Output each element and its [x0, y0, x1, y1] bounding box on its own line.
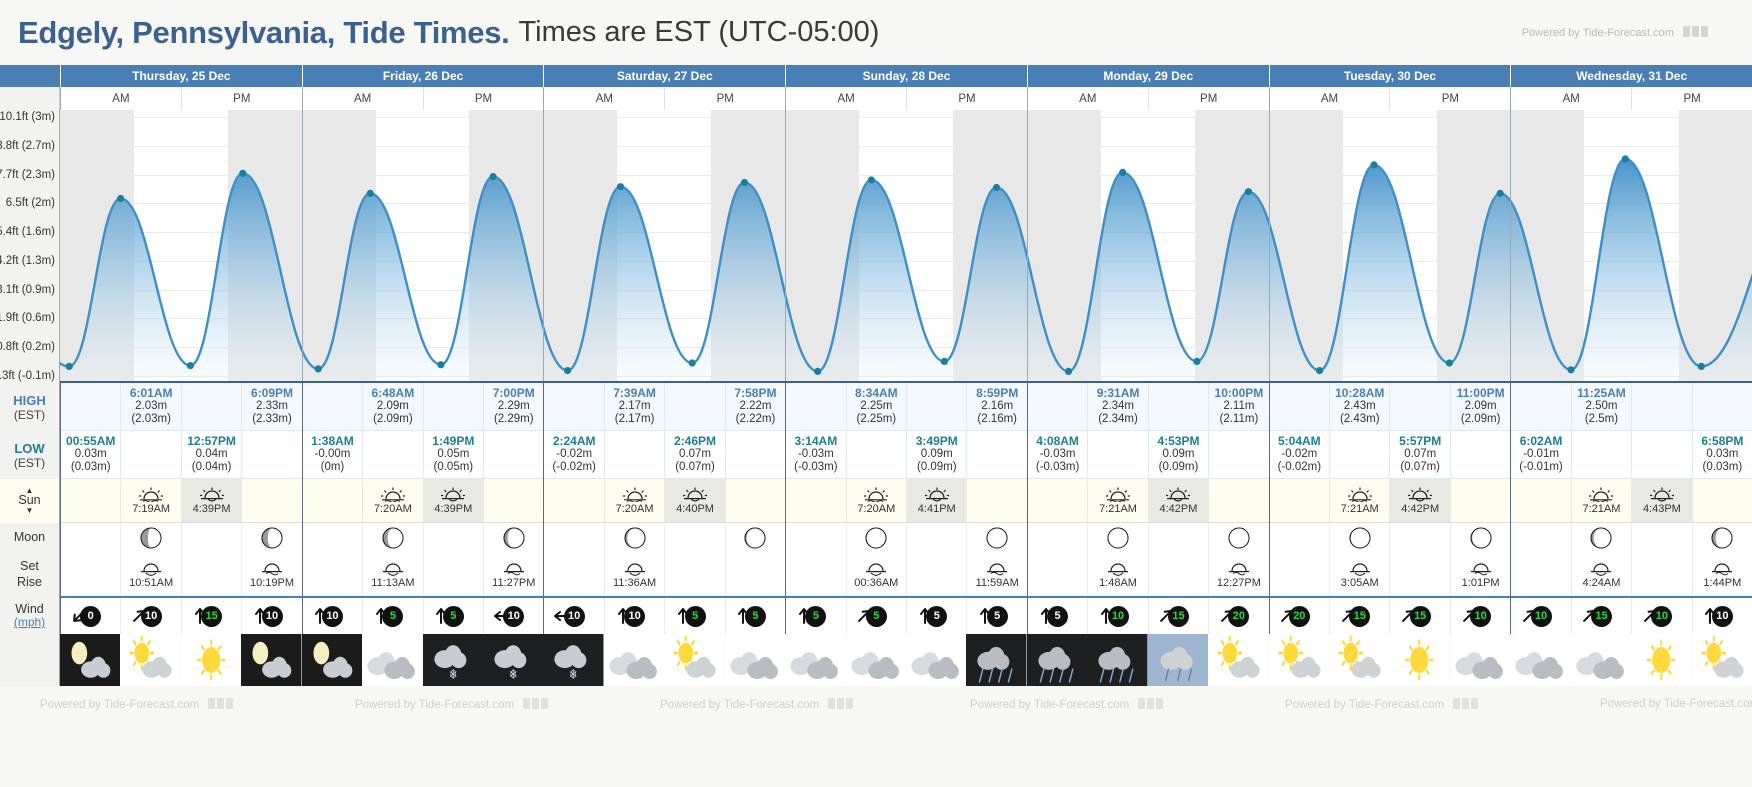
wind-cell[interactable]: 10: [1087, 598, 1147, 634]
sunrise-cell[interactable]: 7:20AM: [604, 479, 664, 523]
wind-cell[interactable]: 20: [1270, 598, 1329, 634]
low-tide-cell-empty: [241, 431, 301, 479]
ampm-pm-5: PM: [1389, 87, 1510, 110]
y-axis-label-4: 5.4ft (1.6m): [0, 226, 55, 238]
wind-cell[interactable]: 20: [1208, 598, 1268, 634]
moonrise-cell[interactable]: 10:19PM: [241, 552, 301, 596]
high-tide-day-6: 11:25AM 2.50m (2.5m): [1510, 383, 1752, 431]
high-tide-cell[interactable]: 6:01AM 2.03m (2.03m): [120, 383, 180, 431]
weather-cell[interactable]: [120, 634, 180, 686]
moon-phase-cell[interactable]: [483, 523, 543, 552]
weather-cell[interactable]: [302, 634, 362, 686]
high-tide-time: 6:09PM: [251, 387, 293, 400]
high-tide-height-alt: (2.03m): [131, 413, 171, 426]
page-title: Edgely, Pennsylvania, Tide Times.: [18, 15, 509, 51]
high-tide-height-alt: (2.33m): [252, 413, 292, 426]
wind-day-1: 10 5 5 10: [302, 598, 544, 634]
low-tide-time: 4:08AM: [1036, 435, 1079, 448]
wind-speed-badge: 10: [1531, 606, 1552, 627]
wind-cell[interactable]: 10: [1511, 598, 1570, 634]
moon-phase-cell[interactable]: [1571, 523, 1631, 552]
high-label-unit: (EST): [14, 408, 45, 422]
moon-phase-cell[interactable]: [1208, 523, 1268, 552]
high-tide-time: 7:58PM: [734, 387, 776, 400]
sunrise-time: 7:20AM: [857, 503, 895, 515]
sunset-icon: [1649, 487, 1675, 502]
wind-cell[interactable]: 10: [303, 598, 362, 634]
low-tide-cell[interactable]: 5:57PM 0.07m (0.07m): [1389, 431, 1449, 479]
wind-speed-badge: 10: [322, 606, 343, 627]
wind-speed-badge: 5: [745, 606, 766, 627]
wind-cell[interactable]: 5: [1028, 598, 1087, 634]
wind-cell[interactable]: 10: [241, 598, 301, 634]
weather-cell[interactable]: [785, 634, 845, 686]
wind-cell[interactable]: 10: [483, 598, 543, 634]
set-label-text: Set: [20, 559, 39, 575]
sunset-time: 4:43PM: [1643, 503, 1681, 515]
high-tide-time: 6:01AM: [130, 387, 173, 400]
sunset-cell[interactable]: 4:40PM: [664, 479, 724, 523]
weather-cell[interactable]: [1148, 634, 1208, 686]
moonset-cell[interactable]: 11:13AM: [362, 552, 422, 596]
weather-day-1: ❄ ❄: [302, 634, 544, 686]
ampm-am-0: AM: [61, 87, 181, 110]
low-tide-height: -0.02m: [556, 448, 592, 461]
high-tide-height-alt: (2.16m): [977, 413, 1017, 426]
high-tide-time: 8:34AM: [855, 387, 898, 400]
sunrise-icon: [1105, 487, 1131, 502]
setrise-day-0: 10:51AM 10:19PM: [60, 552, 302, 598]
footer-powered-2: Powered by Tide-Forecast.com: [355, 698, 548, 711]
weather-cell[interactable]: [362, 634, 422, 686]
wind-speed-badge: 10: [624, 606, 645, 627]
low-tide-cell-empty: [1329, 431, 1389, 479]
ampm-am-5: AM: [1270, 87, 1390, 110]
wind-cell[interactable]: 10: [1450, 598, 1510, 634]
moon-day-3: [785, 523, 1027, 552]
low-tide-cell-empty: [1208, 431, 1268, 479]
high-tide-height: 2.43m: [1344, 400, 1376, 413]
low-tide-cell-empty: [846, 431, 906, 479]
high-tide-time: 7:39AM: [613, 387, 656, 400]
low-tide-height-alt: (0.09m): [917, 461, 957, 474]
weather-partly-cloudy-icon: [1329, 634, 1389, 686]
high-tide-cell-empty: [906, 383, 966, 431]
wind-cell[interactable]: 5: [786, 598, 845, 634]
sunrise-cell[interactable]: 7:19AM: [120, 479, 180, 523]
weather-cell[interactable]: [181, 634, 241, 686]
high-tide-cell-empty: [1692, 383, 1752, 431]
moonrise-time: 11:59AM: [976, 577, 1019, 589]
high-tide-cell[interactable]: 7:58PM 2.22m (2.22m): [725, 383, 785, 431]
moonset-cell[interactable]: 00:36AM: [846, 552, 906, 596]
weather-cell[interactable]: ❄: [543, 634, 603, 686]
wind-speed-badge: 5: [805, 606, 826, 627]
low-tide-cell[interactable]: 00:55AM 0.03m (0.03m): [61, 431, 120, 479]
high-tide-height-alt: (2.25m): [857, 413, 897, 426]
low-tide-day-2: 2:24AM -0.02m (-0.02m) 2:46PM 0.07m (0.0…: [543, 431, 785, 479]
wind-cell[interactable]: 15: [1329, 598, 1389, 634]
low-tide-cell[interactable]: 1:49PM 0.05m (0.05m): [423, 431, 483, 479]
moonset-time: 3:05AM: [1341, 577, 1379, 589]
moon-phase-icon: [1470, 527, 1492, 549]
moonrise-icon: [1469, 560, 1493, 576]
high-tide-cell[interactable]: 7:39AM 2.17m (2.17m): [604, 383, 664, 431]
day-header-0[interactable]: Thursday, 25 Dec: [60, 65, 302, 87]
wind-cell[interactable]: 5: [966, 598, 1026, 634]
day-separator: [1269, 110, 1270, 381]
weather-cell[interactable]: [1631, 634, 1691, 686]
low-tide-cell[interactable]: 4:08AM -0.03m (-0.03m): [1028, 431, 1087, 479]
day-header-1[interactable]: Friday, 26 Dec: [302, 65, 544, 87]
moon-phase-cell[interactable]: [966, 523, 1026, 552]
low-label-text: LOW: [14, 441, 44, 456]
wind-speed-badge: 10: [262, 606, 283, 627]
weather-cell[interactable]: [1692, 634, 1752, 686]
low-tide-height-alt: (0.03m): [71, 461, 111, 474]
day-header-4[interactable]: Monday, 29 Dec: [1027, 65, 1269, 87]
wind-unit-link[interactable]: (mph): [14, 616, 45, 630]
high-tide-cell-empty: [1148, 383, 1208, 431]
sunset-cell[interactable]: 4:42PM: [1148, 479, 1208, 523]
wind-speed-badge: 15: [1349, 606, 1370, 627]
caret-down-icon: ▼: [26, 507, 34, 515]
moonrise-cell[interactable]: 11:59AM: [966, 552, 1026, 596]
wind-cell[interactable]: 10: [544, 598, 603, 634]
sun-cell-empty: [241, 479, 301, 523]
sunrise-cell[interactable]: 7:21AM: [1571, 479, 1631, 523]
ampm-pm-3: PM: [906, 87, 1027, 110]
wind-cell[interactable]: 10: [1692, 598, 1752, 634]
high-tide-cell[interactable]: 8:59PM 2.16m (2.16m): [966, 383, 1026, 431]
moon-cell-empty: [1148, 523, 1208, 552]
wind-cell[interactable]: 10: [604, 598, 664, 634]
weather-day-6: [1510, 634, 1752, 686]
low-tide-cell-empty: [604, 431, 664, 479]
low-tide-cell[interactable]: 12:57PM 0.04m (0.04m): [181, 431, 241, 479]
moon-day-6: [1510, 523, 1752, 552]
wind-cell[interactable]: 15: [181, 598, 241, 634]
high-tide-cell-empty: [423, 383, 483, 431]
moonset-icon: [623, 560, 647, 576]
ampm-group-2: AM PM: [543, 87, 785, 110]
weather-cell[interactable]: [664, 634, 724, 686]
corner-spacer: [0, 65, 60, 87]
moonrise-icon: [1227, 560, 1251, 576]
moonset-cell[interactable]: 3:05AM: [1329, 552, 1389, 596]
wind-speed-badge: 10: [503, 606, 524, 627]
ampm-group-3: AM PM: [785, 87, 1027, 110]
moonset-cell[interactable]: 11:36AM: [604, 552, 664, 596]
wind-cell[interactable]: 15: [1389, 598, 1449, 634]
high-tide-cell[interactable]: 11:25AM 2.50m (2.5m): [1571, 383, 1631, 431]
sunset-time: 4:39PM: [193, 503, 231, 515]
day-separator: [1510, 110, 1511, 381]
ampm-pm-2: PM: [664, 87, 785, 110]
moonrise-cell[interactable]: 12:27PM: [1208, 552, 1268, 596]
moon-cell-empty: [664, 523, 724, 552]
footer-powered-1: Powered by Tide-Forecast.com: [40, 698, 233, 711]
low-tide-height-alt: (0.05m): [434, 461, 474, 474]
high-tide-day-0: 6:01AM 2.03m (2.03m) 6:09PM 2.33m (2.33m…: [60, 383, 302, 431]
ampm-group-4: AM PM: [1027, 87, 1269, 110]
weather-cell[interactable]: [1389, 634, 1449, 686]
sunset-cell[interactable]: 4:41PM: [906, 479, 966, 523]
sun-cell-empty: [1450, 479, 1510, 523]
high-tide-cell[interactable]: 10:00PM 2.11m (2.11m): [1208, 383, 1268, 431]
weather-cell[interactable]: [604, 634, 664, 686]
high-tide-cell[interactable]: 10:28AM 2.43m (2.43m): [1329, 383, 1389, 431]
moonset-cell[interactable]: 10:51AM: [120, 552, 180, 596]
high-tide-height-alt: (2.17m): [615, 413, 655, 426]
low-tide-cell[interactable]: 2:24AM -0.02m (-0.02m): [544, 431, 603, 479]
weather-cell[interactable]: [846, 634, 906, 686]
ampm-group-0: AM PM: [60, 87, 302, 110]
moon-phase-cell[interactable]: [604, 523, 664, 552]
wind-cell[interactable]: 5: [846, 598, 906, 634]
sunset-cell[interactable]: 4:39PM: [181, 479, 241, 523]
moon-cell-empty: [61, 523, 120, 552]
wind-speed-badge: 5: [926, 606, 947, 627]
weather-cell[interactable]: [725, 634, 785, 686]
moon-phase-cell[interactable]: [241, 523, 301, 552]
moonset-icon: [864, 560, 888, 576]
moon-phase-cell[interactable]: [1450, 523, 1510, 552]
low-tide-height-alt: (0.07m): [1400, 461, 1440, 474]
weather-partly-cloudy-icon: [664, 634, 724, 686]
y-axis-label-5: 4.2ft (1.3m): [0, 255, 55, 267]
high-tide-cell[interactable]: 6:48AM 2.09m (2.09m): [362, 383, 422, 431]
high-tide-height: 2.11m: [1223, 400, 1254, 413]
setrise-cell-empty: [1028, 552, 1087, 596]
high-tide-height-alt: (2.22m): [736, 413, 776, 426]
sunrise-icon: [622, 487, 648, 502]
high-tide-cell[interactable]: 8:34AM 2.25m (2.25m): [846, 383, 906, 431]
wind-cell[interactable]: 5: [423, 598, 483, 634]
footer-powered-4: Powered by Tide-Forecast.com: [970, 698, 1163, 711]
wind-speed-badge: 10: [1651, 606, 1672, 627]
weather-cell[interactable]: ❄: [483, 634, 543, 686]
day-header-3[interactable]: Sunday, 28 Dec: [785, 65, 1027, 87]
moonset-cell[interactable]: 1:48AM: [1087, 552, 1147, 596]
high-tide-cell[interactable]: 9:31AM 2.34m (2.34m): [1087, 383, 1147, 431]
low-tide-cell[interactable]: 3:49PM 0.09m (0.09m): [906, 431, 966, 479]
sun-cell-empty: [1270, 479, 1329, 523]
wind-cell[interactable]: 5: [362, 598, 422, 634]
low-tide-cell-empty: [362, 431, 422, 479]
weather-spacer: [0, 634, 60, 686]
wind-cell[interactable]: 5: [664, 598, 724, 634]
moon-cell-empty: [303, 523, 362, 552]
setrise-cell-empty: [1270, 552, 1329, 596]
moon-phase-cell[interactable]: [120, 523, 180, 552]
wind-cell[interactable]: 10: [120, 598, 180, 634]
low-tide-height-alt: (0.04m): [192, 461, 232, 474]
page-subtitle: Times are EST (UTC-05:00): [518, 16, 879, 49]
sunrise-icon: [1347, 487, 1373, 502]
low-tide-height: 0.07m: [679, 448, 711, 461]
high-tide-height: 2.03m: [135, 400, 167, 413]
moon-phase-cell[interactable]: [846, 523, 906, 552]
sunset-cell[interactable]: 4:43PM: [1631, 479, 1691, 523]
sunset-cell[interactable]: 4:42PM: [1389, 479, 1449, 523]
low-tide-height-alt: (-0.02m): [1278, 461, 1321, 474]
wind-cell[interactable]: 0: [61, 598, 120, 634]
moon-day-2: [543, 523, 785, 552]
setrise-cell-empty: [303, 552, 362, 596]
high-tide-cell[interactable]: 7:00PM 2.29m (2.29m): [483, 383, 543, 431]
tide-forecast-page: Edgely, Pennsylvania, Tide Times. Times …: [0, 0, 1752, 787]
moon-phase-cell[interactable]: [1329, 523, 1389, 552]
weather-cell[interactable]: ❄: [423, 634, 483, 686]
sunrise-time: 7:21AM: [1341, 503, 1379, 515]
low-tide-height: -0.03m: [798, 448, 834, 461]
weather-cell[interactable]: [1571, 634, 1631, 686]
sun-cell-empty: [1692, 479, 1752, 523]
setrise-cell-empty: [181, 552, 241, 596]
sunrise-icon: [138, 487, 164, 502]
high-tide-height: 2.17m: [619, 400, 651, 413]
sunrise-icon: [380, 487, 406, 502]
high-tide-label: HIGH (EST): [0, 383, 60, 431]
low-tide-row: LOW (EST) 00:55AM 0.03m (0.03m) 12:57PM …: [0, 431, 1752, 479]
low-tide-height: 0.09m: [1162, 448, 1194, 461]
sunrise-cell[interactable]: 7:20AM: [362, 479, 422, 523]
low-tide-height: 0.07m: [1404, 448, 1436, 461]
day-separator: [302, 110, 303, 381]
low-tide-cell-empty: [1087, 431, 1147, 479]
wind-cell[interactable]: 10: [1631, 598, 1691, 634]
moonrise-time: 11:27PM: [492, 577, 535, 589]
high-tide-day-3: 8:34AM 2.25m (2.25m) 8:59PM 2.16m (2.16m…: [785, 383, 1027, 431]
weather-cell[interactable]: [1208, 634, 1268, 686]
day-header-6[interactable]: Wednesday, 31 Dec: [1510, 65, 1752, 87]
ampm-spacer: [0, 87, 60, 110]
low-tide-cell-empty: [1450, 431, 1510, 479]
low-tide-cell-empty: [483, 431, 543, 479]
footer-powered-text-5: Powered by Tide-Forecast.com: [1285, 699, 1444, 711]
low-tide-cell[interactable]: 6:02AM -0.01m (-0.01m): [1511, 431, 1570, 479]
wind-day-5: 20 15 15 10: [1269, 598, 1511, 634]
powered-by-text: Powered by Tide-Forecast.com: [1522, 27, 1674, 39]
wind-cell[interactable]: 15: [1571, 598, 1631, 634]
sunrise-time: 7:21AM: [1583, 503, 1621, 515]
moonrise-icon: [1710, 560, 1734, 576]
low-tide-cell[interactable]: 1:38AM -0.00m (0m): [303, 431, 362, 479]
weather-cell[interactable]: [1087, 634, 1147, 686]
high-tide-time: 6:48AM: [372, 387, 415, 400]
day-header-2[interactable]: Saturday, 27 Dec: [543, 65, 785, 87]
low-tide-height: -0.01m: [1523, 448, 1559, 461]
wind-cell[interactable]: 15: [1148, 598, 1208, 634]
sunset-cell[interactable]: 4:39PM: [423, 479, 483, 523]
moonset-time: 00:36AM: [854, 577, 898, 589]
weather-cell[interactable]: [1329, 634, 1389, 686]
moonrise-cell[interactable]: 11:27PM: [483, 552, 543, 596]
moon-phase-icon: [382, 527, 404, 549]
sun-cell-empty: [786, 479, 845, 523]
sunset-time: 4:42PM: [1160, 503, 1198, 515]
svg-text:❄: ❄: [509, 666, 517, 682]
moon-phase-cell[interactable]: [1692, 523, 1752, 552]
sun-cell-empty: [61, 479, 120, 523]
wind-speed-badge: 5: [987, 606, 1008, 627]
low-tide-cell[interactable]: 6:58PM 0.03m (0.03m): [1692, 431, 1752, 479]
weather-cell[interactable]: [906, 634, 966, 686]
high-tide-height: 2.22m: [739, 400, 771, 413]
low-tide-height-alt: (0m): [321, 461, 345, 474]
low-tide-cell[interactable]: 3:14AM -0.03m (-0.03m): [786, 431, 845, 479]
low-tide-height: -0.00m: [315, 448, 351, 461]
low-tide-height: 0.03m: [1706, 448, 1738, 461]
wind-cell[interactable]: 5: [725, 598, 785, 634]
low-tide-cell[interactable]: 2:46PM 0.07m (0.07m): [664, 431, 724, 479]
sunrise-cell[interactable]: 7:21AM: [1329, 479, 1389, 523]
low-tide-height: 0.04m: [196, 448, 228, 461]
moonset-cell[interactable]: 4:24AM: [1571, 552, 1631, 596]
setrise-cell-empty: [61, 552, 120, 596]
y-axis-label-0: 10.1ft (3m): [0, 111, 55, 123]
day-separator: [1027, 110, 1028, 381]
low-tide-cell[interactable]: 4:53PM 0.09m (0.09m): [1148, 431, 1208, 479]
weather-night-cloudy-icon: [302, 634, 362, 686]
moon-phase-icon: [1228, 527, 1250, 549]
low-tide-cell[interactable]: 5:04AM -0.02m (-0.02m): [1270, 431, 1329, 479]
weather-cell[interactable]: [241, 634, 301, 686]
high-tide-height-alt: (2.09m): [373, 413, 413, 426]
weather-cell[interactable]: [1027, 634, 1087, 686]
day-header-5[interactable]: Tuesday, 30 Dec: [1269, 65, 1511, 87]
moon-cell-empty: [1028, 523, 1087, 552]
moon-phase-cell[interactable]: [362, 523, 422, 552]
moonrise-cell[interactable]: 1:01PM: [1450, 552, 1510, 596]
sunrise-time: 7:21AM: [1099, 503, 1137, 515]
weather-cell[interactable]: [1510, 634, 1570, 686]
sunset-icon: [1165, 487, 1191, 502]
y-axis: 10.1ft (3m)8.8ft (2.7m)7.7ft (2.3m)6.5ft…: [0, 110, 60, 383]
weather-cell[interactable]: [1269, 634, 1329, 686]
ampm-pm-4: PM: [1148, 87, 1269, 110]
wind-cell[interactable]: 5: [906, 598, 966, 634]
weather-day-5: [1269, 634, 1511, 686]
low-tide-cell-empty: [120, 431, 180, 479]
y-axis-label-9: -0.3ft (-0.1m): [0, 370, 55, 382]
setrise-cell-empty: [1389, 552, 1449, 596]
sunrise-cell[interactable]: 7:20AM: [846, 479, 906, 523]
low-tide-day-1: 1:38AM -0.00m (0m) 1:49PM 0.05m (0.05m): [302, 431, 544, 479]
sun-cell-empty: [303, 479, 362, 523]
high-tide-cell[interactable]: 6:09PM 2.33m (2.33m): [241, 383, 301, 431]
moonset-icon: [381, 560, 405, 576]
moon-phase-row: Moon: [0, 523, 1752, 552]
sunrise-cell[interactable]: 7:21AM: [1087, 479, 1147, 523]
high-tide-cell[interactable]: 11:00PM 2.09m (2.09m): [1450, 383, 1510, 431]
sun-row: ▲ Sun ▼ 7:19AM 4:39PM: [0, 479, 1752, 523]
high-tide-time: 9:31AM: [1097, 387, 1140, 400]
weather-cell[interactable]: [966, 634, 1026, 686]
wind-speed-badge: 15: [201, 606, 222, 627]
moonrise-time: 10:19PM: [250, 577, 294, 589]
day-separator: [785, 110, 786, 381]
low-tide-height: -0.02m: [1281, 448, 1317, 461]
weather-cloudy-icon: [725, 634, 785, 686]
weather-light-rain-icon: [1148, 634, 1208, 686]
weather-cell[interactable]: [60, 634, 120, 686]
moon-phase-cell[interactable]: [725, 523, 785, 552]
moonrise-cell[interactable]: 1:44PM: [1692, 552, 1752, 596]
moon-phase-cell[interactable]: [1087, 523, 1147, 552]
weather-cell[interactable]: [1450, 634, 1510, 686]
